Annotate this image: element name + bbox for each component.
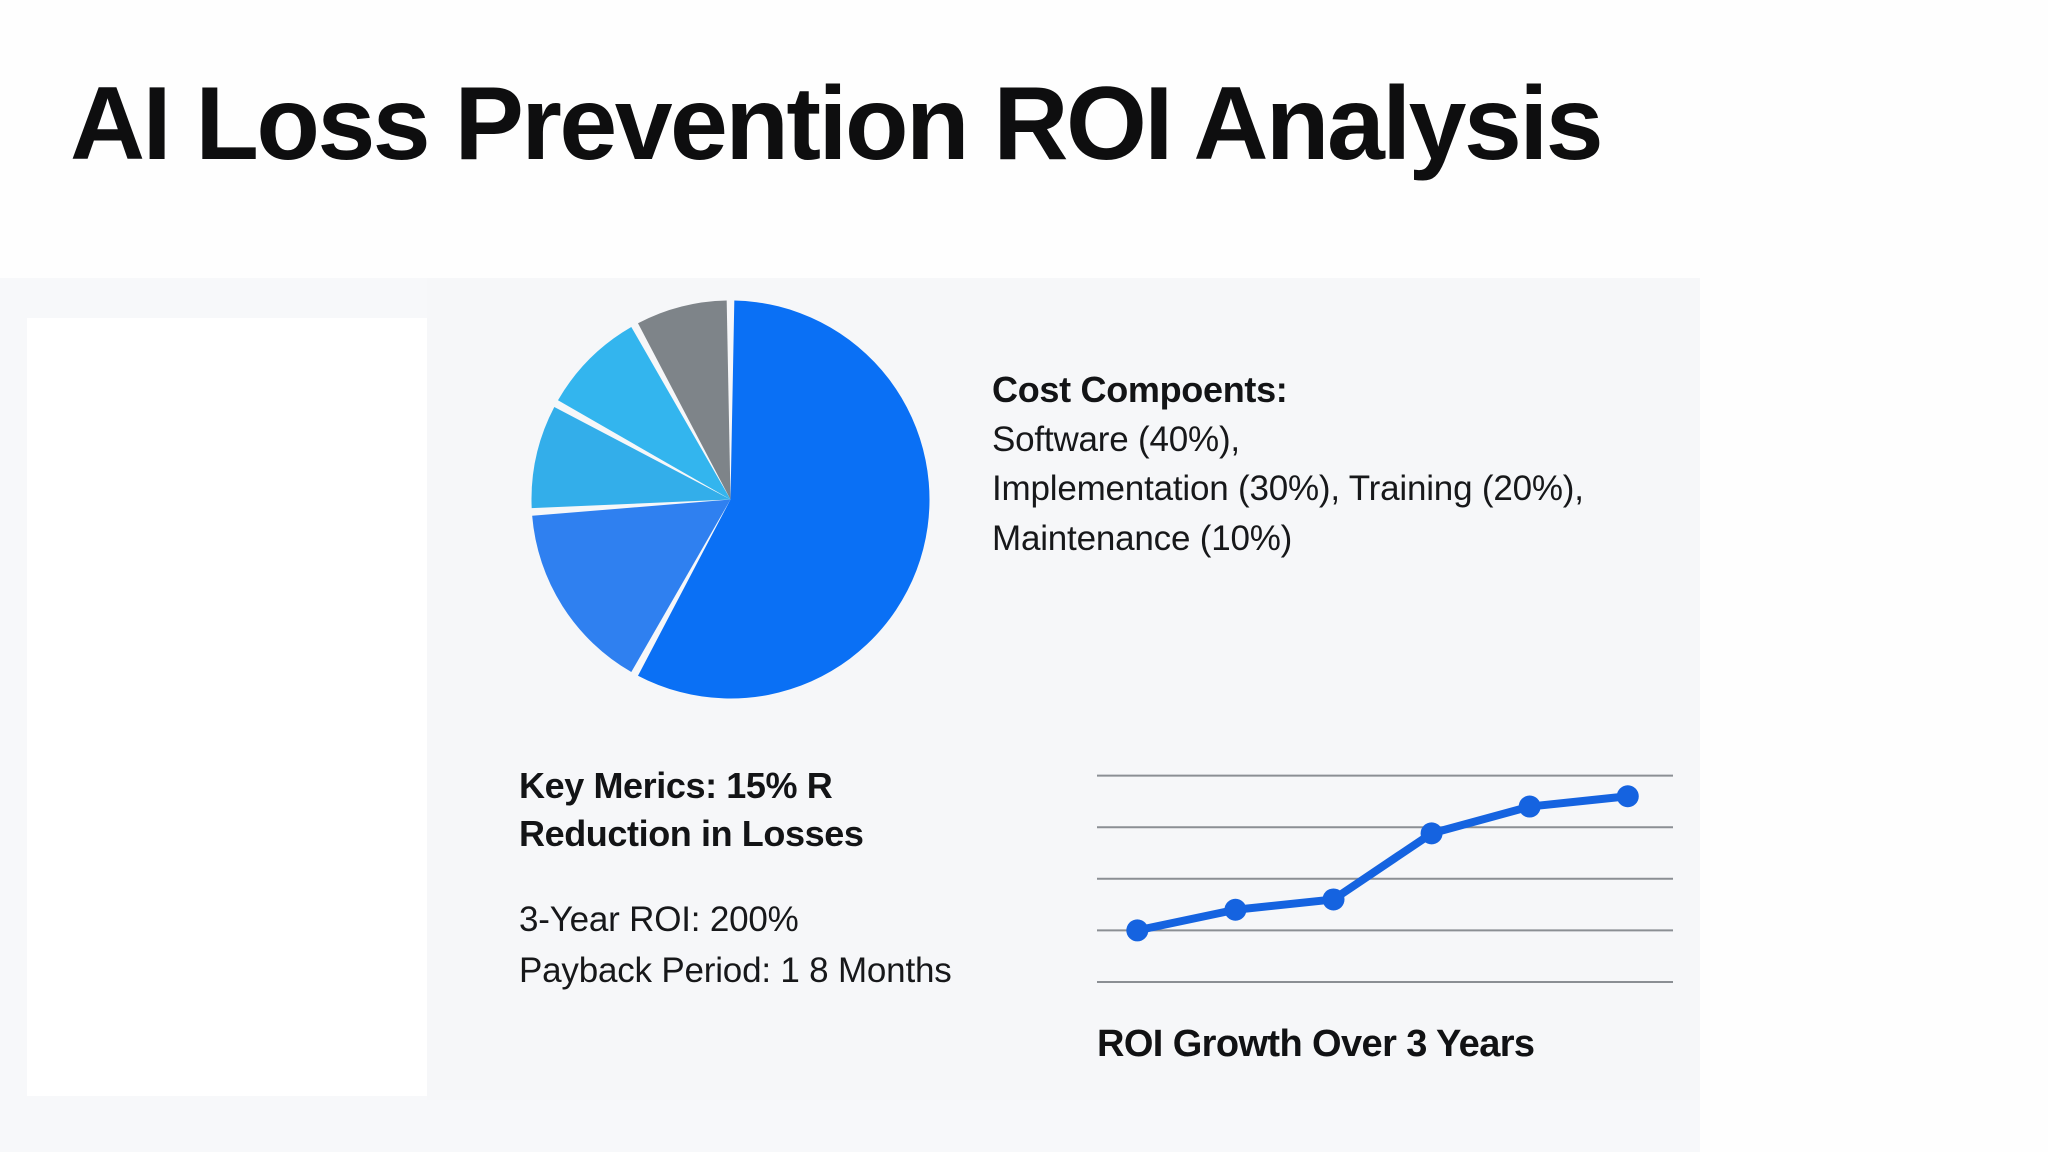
line-chart-data-point [1421, 822, 1443, 844]
pie-chart-svg [528, 297, 933, 702]
roi-growth-line-chart [1095, 700, 1675, 1000]
key-metrics-heading-line-1: Key Merics: 15% R [519, 762, 1079, 810]
line-chart-data-point [1126, 919, 1148, 941]
line-chart-data-point [1519, 796, 1541, 818]
roi-detail-block: 3-Year ROI: 200% Payback Period: 1 8 Mon… [519, 895, 1079, 997]
line-chart-data-point [1323, 888, 1345, 910]
cost-components-line-2: Implementation (30%), Training (20%), [992, 464, 1752, 514]
pie-slice-group [532, 301, 930, 699]
right-margin [1700, 278, 2048, 1152]
key-metrics-block: Key Merics: 15% R Reduction in Losses [519, 762, 1079, 857]
header-band: AI Loss Prevention ROI Analysis [0, 0, 2048, 278]
left-white-card [27, 318, 427, 1096]
line-chart-gridlines [1097, 776, 1673, 982]
line-chart-data-point [1617, 785, 1639, 807]
cost-components-line-3: Maintenance (10%) [992, 514, 1752, 564]
cost-components-pie-chart [528, 297, 933, 702]
line-chart-caption: ROI Growth Over 3 Years [1097, 1023, 1534, 1066]
line-chart-series-path [1137, 796, 1627, 930]
page-title: AI Loss Prevention ROI Analysis [70, 70, 1601, 179]
cost-components-line-1: Software (40%), [992, 415, 1752, 465]
line-chart-svg [1095, 700, 1675, 1000]
line-chart-data-point [1224, 899, 1246, 921]
cost-components-heading: Cost Compoents: [992, 366, 1752, 415]
cost-components-text-block: Cost Compoents: Software (40%), Implemen… [992, 366, 1752, 564]
payback-period-line: Payback Period: 1 8 Months [519, 946, 1079, 997]
key-metrics-heading-line-2: Reduction in Losses [519, 810, 1079, 858]
slide-root: AI Loss Prevention ROI Analysis Cost Com… [0, 0, 2048, 1152]
three-year-roi-line: 3-Year ROI: 200% [519, 895, 1079, 946]
